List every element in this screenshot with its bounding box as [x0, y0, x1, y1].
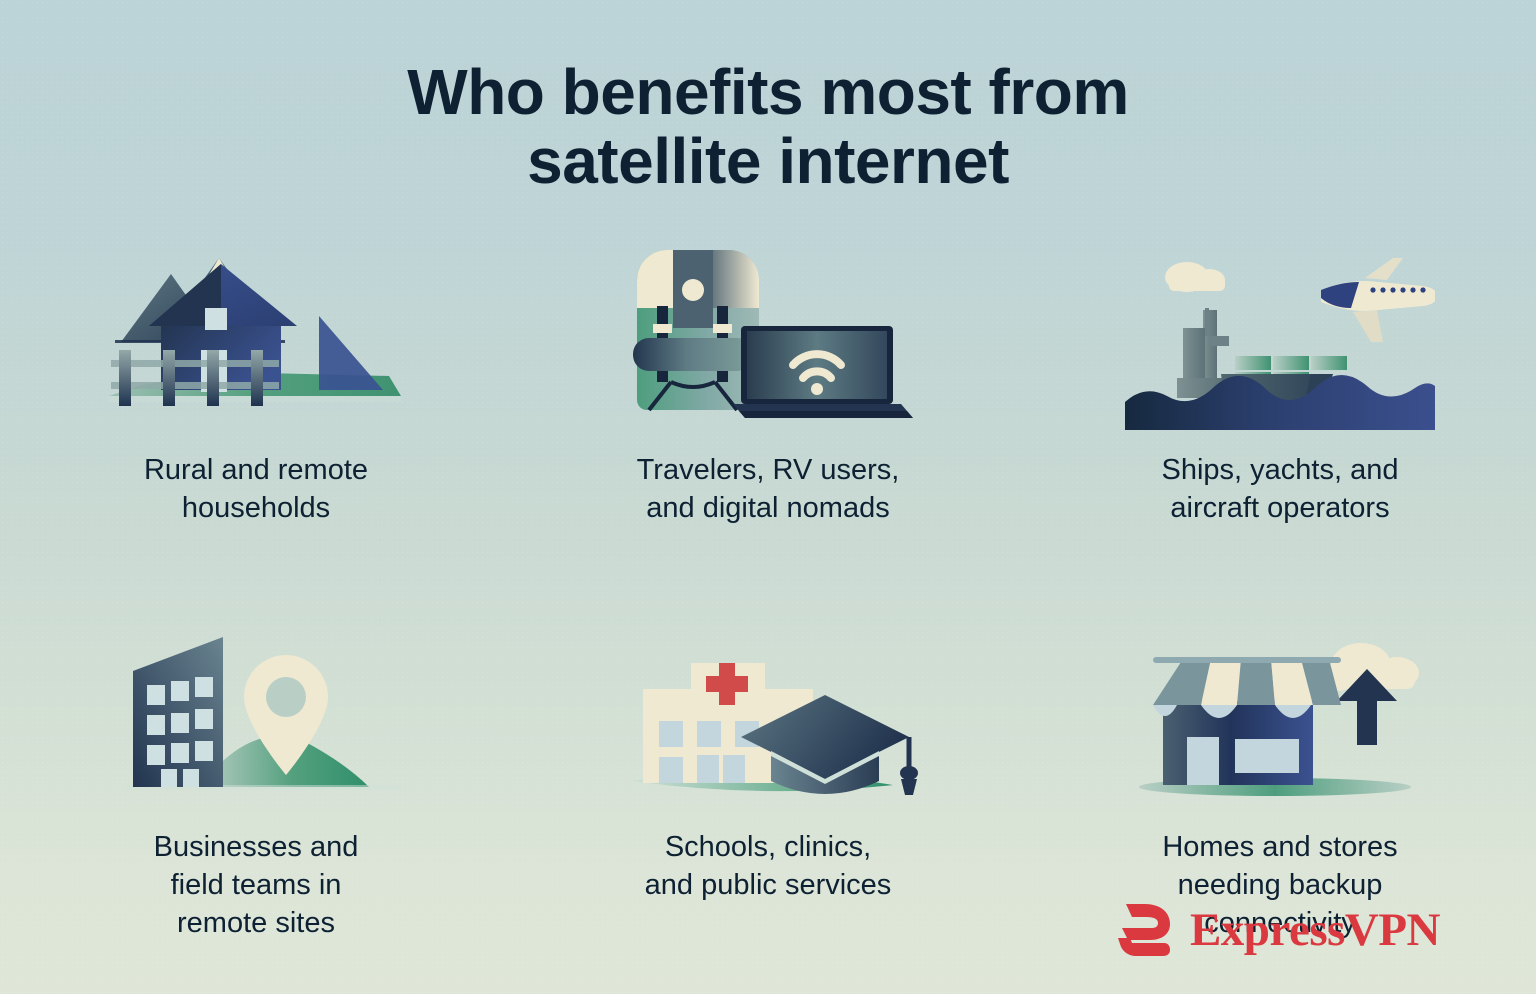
caption-line-2: field teams in [154, 867, 359, 905]
caption-line-1: Travelers, RV users, [637, 452, 900, 490]
caption-line-1: Ships, yachts, and [1162, 452, 1399, 490]
caption-line-1: Schools, clinics, [645, 829, 892, 867]
caption-line-2: and public services [645, 867, 892, 905]
office-building-map-pin-icon [101, 627, 411, 807]
caption-line-1: Businesses and [154, 829, 359, 867]
benefit-card-rural-households: Rural and remote households [0, 250, 512, 527]
benefit-row-bottom: Businesses and field teams in remote sit… [0, 627, 1536, 942]
expressvpn-e-mark-icon [1112, 898, 1176, 962]
caption-line-2: and digital nomads [637, 490, 900, 528]
caption-line-1: Homes and stores [1162, 829, 1397, 867]
benefit-card-travelers: Travelers, RV users, and digital nomads [512, 250, 1024, 527]
clinic-graduation-cap-icon [613, 627, 923, 807]
infographic-page: Who benefits most from satellite interne… [0, 0, 1536, 994]
benefit-row-top: Rural and remote households [0, 250, 1536, 527]
backpack-laptop-wifi-icon [613, 250, 923, 430]
ship-airplane-icon [1125, 250, 1435, 430]
benefit-card-homes-stores: Homes and stores needing backup connecti… [1024, 627, 1536, 942]
caption-line-3: remote sites [154, 905, 359, 943]
benefit-caption: Businesses and field teams in remote sit… [154, 829, 359, 942]
page-title: Who benefits most from satellite interne… [0, 58, 1536, 196]
benefit-caption: Travelers, RV users, and digital nomads [637, 452, 900, 527]
benefit-caption: Ships, yachts, and aircraft operators [1162, 452, 1399, 527]
benefit-card-businesses: Businesses and field teams in remote sit… [0, 627, 512, 942]
benefit-card-schools-clinics: Schools, clinics, and public services [512, 627, 1024, 942]
page-title-line-2: satellite internet [0, 127, 1536, 196]
benefit-caption: Schools, clinics, and public services [645, 829, 892, 904]
expressvpn-wordmark: ExpressVPN [1190, 907, 1440, 954]
benefit-cards-grid: Rural and remote households [0, 250, 1536, 942]
page-title-line-1: Who benefits most from [0, 58, 1536, 127]
caption-line-2: aircraft operators [1162, 490, 1399, 528]
expressvpn-logo: ExpressVPN [1112, 898, 1440, 962]
benefit-card-ships-aircraft: Ships, yachts, and aircraft operators [1024, 250, 1536, 527]
benefit-caption: Rural and remote households [144, 452, 368, 527]
caption-line-1: Rural and remote [144, 452, 368, 490]
storefront-cloud-upload-icon [1125, 627, 1435, 807]
caption-line-2: households [144, 490, 368, 528]
rural-house-mountains-icon [101, 250, 411, 430]
